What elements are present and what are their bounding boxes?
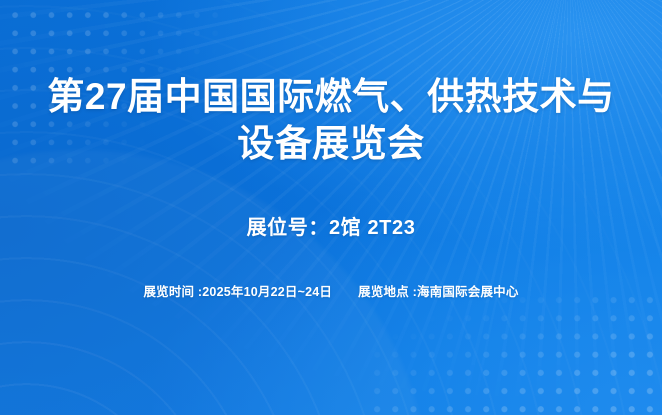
exhibition-date-label: 展览时间 : (143, 285, 202, 299)
exhibition-venue-value: 海南国际会展中心 (417, 285, 519, 299)
exhibition-venue-label: 展览地点 : (358, 285, 417, 299)
banner-content: 第27届中国国际燃气、供热技术与 设备展览会 展位号：2馆 2T23 展览时间 … (0, 0, 662, 415)
banner-title-line-1: 第27届中国国际燃气、供热技术与 (0, 73, 662, 120)
booth-number: 展位号：2馆 2T23 (247, 215, 416, 241)
banner-meta: 展览时间 :2025年10月22日~24日展览地点 :海南国际会展中心 (143, 284, 518, 301)
exhibition-banner: 第27届中国国际燃气、供热技术与 设备展览会 展位号：2馆 2T23 展览时间 … (0, 0, 662, 415)
exhibition-date-value: 2025年10月22日~24日 (202, 285, 332, 299)
banner-title-line-2: 设备展览会 (0, 120, 662, 167)
